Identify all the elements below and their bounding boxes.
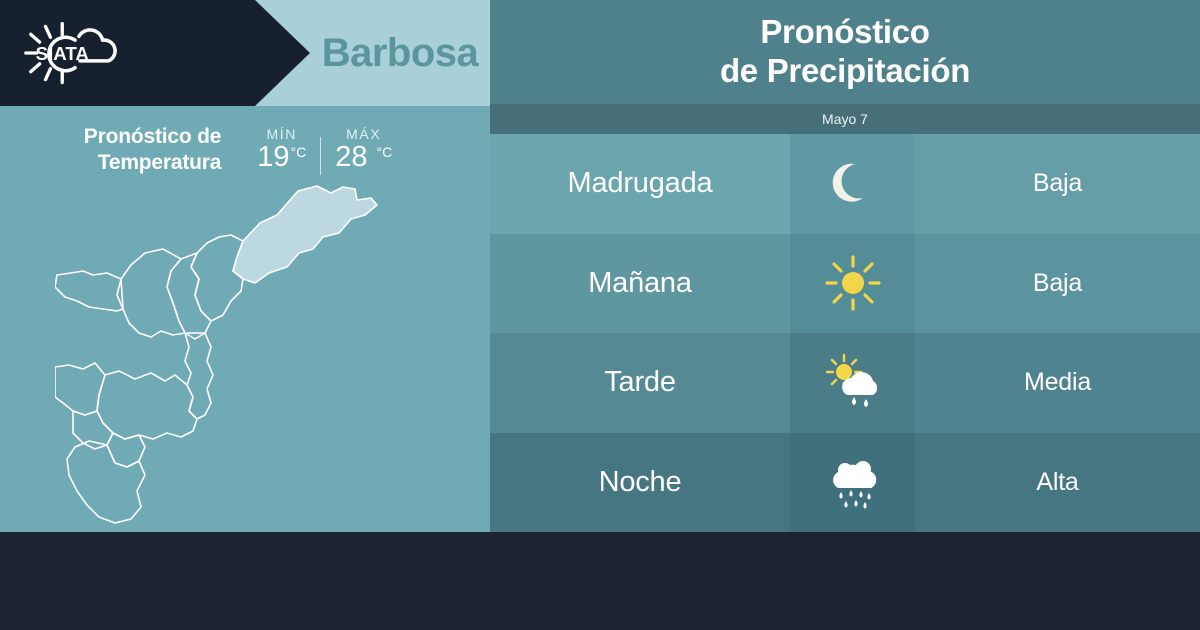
row-period-cell: Tarde [490,333,790,433]
sun-rain-cloud-icon [821,351,885,415]
temperature-min-label: MÍN [266,126,296,142]
row-icon-cell [790,333,915,433]
row-period-cell: Mañana [490,234,790,334]
period-label: Tarde [604,366,676,399]
temperature-max: MÁX 28 °C [321,126,406,172]
temperature-max-unit: °C [376,145,392,159]
forecast-date-band: Mayo 7 [490,104,1200,134]
siata-wordmark: SIATA [36,43,89,64]
map-connector [185,333,213,419]
precipitation-panel: Pronóstico de Precipitación Mayo 7 Madru… [490,0,1200,532]
table-row: Mañana [490,234,1200,334]
level-label: Alta [1036,468,1078,497]
precipitation-header: Pronóstico de Precipitación [490,0,1200,104]
forecast-date: Mayo 7 [822,111,868,127]
sun-cloud-icon: SIATA [18,18,136,88]
row-level-cell: Alta [915,433,1200,533]
row-level-cell: Media [915,333,1200,433]
row-period-cell: Noche [490,433,790,533]
level-label: Baja [1033,269,1082,298]
row-level-cell: Baja [915,134,1200,234]
level-label: Baja [1033,169,1082,198]
weather-forecast-infographic: SIATA Barbosa Pronóstico de Temperatura … [0,0,1200,630]
siata-logo-block: SIATA [0,0,310,106]
temperature-max-label: MÁX [346,126,381,142]
map-municipality-northwest [55,271,123,311]
table-row: Noche [490,433,1200,533]
table-row: Madrugada Baja [490,134,1200,234]
precipitation-title-line1: Pronóstico [760,13,929,52]
map-municipality-barbosa [233,186,377,283]
temperature-min-unit: °C [290,145,306,159]
table-row: Tarde [490,333,1200,433]
temperature-title: Pronóstico de Temperatura [84,124,221,175]
period-label: Noche [599,466,682,499]
row-icon-cell [790,134,915,234]
row-icon-cell [790,433,915,533]
precipitation-title-line2: de Precipitación [720,52,970,91]
row-level-cell: Baja [915,234,1200,334]
map-svg [55,175,455,525]
temperature-title-line2: Temperatura [84,150,221,176]
row-period-cell: Madrugada [490,134,790,234]
temperature-values: MÍN 19 °C MÁX 28 °C [243,126,406,175]
temperature-max-value-group: 28 °C [335,143,392,172]
temperature-panel: SIATA Barbosa Pronóstico de Temperatura … [0,0,490,532]
temperature-title-line1: Pronóstico de [84,124,221,150]
temperature-min: MÍN 19 °C [243,126,320,172]
map-municipality-northwest2 [55,363,105,415]
temperature-summary: Pronóstico de Temperatura MÍN 19 °C MÁX … [0,118,490,182]
row-icon-cell [790,234,915,334]
aburra-valley-map: N [55,175,455,525]
temperature-min-value: 19 [257,143,289,172]
period-label: Mañana [588,267,692,300]
sun-icon [821,251,885,315]
footer: @siatamedellin www.siata.gov.co Con el a… [0,532,1200,630]
period-label: Madrugada [568,167,713,200]
temperature-max-value: 28 [335,143,367,172]
map-municipality-bello [117,249,185,337]
map-municipality-medellin [97,371,197,439]
heavy-rain-cloud-icon [821,450,885,514]
temperature-min-value-group: 19 °C [257,143,306,172]
map-municipality-south [67,441,145,523]
left-header-band: SIATA Barbosa [0,0,490,106]
precipitation-table: Madrugada Baja Mañana [490,134,1200,532]
moon-icon [821,152,885,216]
page-title: Barbosa [310,0,490,106]
map-municipality-copacabana [167,253,211,339]
level-label: Media [1024,368,1091,397]
